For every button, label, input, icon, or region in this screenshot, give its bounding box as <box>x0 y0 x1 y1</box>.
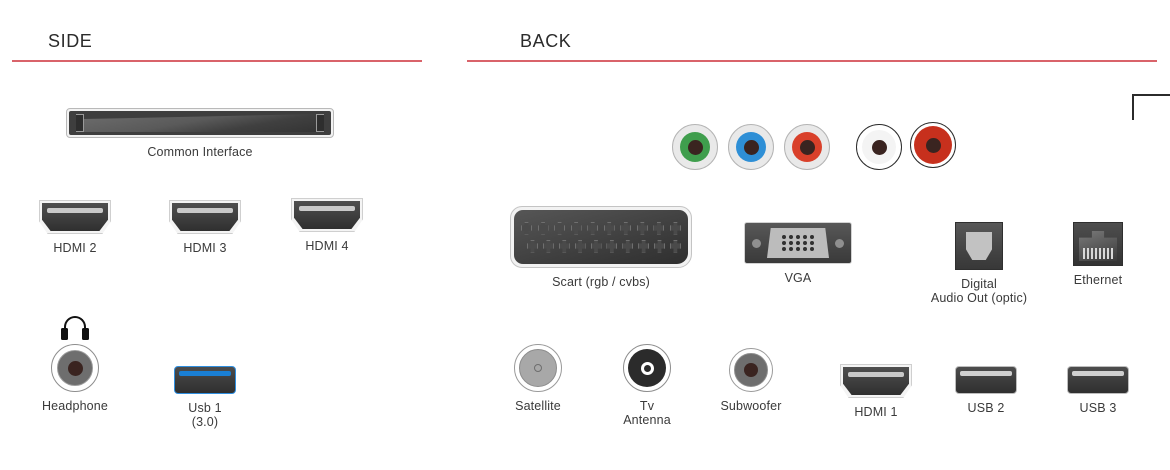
port-label: Ethernet <box>1074 273 1122 287</box>
port-tv-antenna[interactable]: Tv Antenna <box>623 344 671 427</box>
port-label: Scart (rgb / cvbs) <box>552 275 650 289</box>
back-panel: BACK Y Pb Pr - LR <box>440 0 1170 470</box>
side-panel: SIDE Common Interface HDMI 2 HDMI 3 HDMI… <box>0 0 440 470</box>
port-digital-audio-out[interactable]: Digital Audio Out (optic) <box>899 222 1059 305</box>
port-headphone[interactable]: Headphone <box>51 316 99 413</box>
port-label: Satellite <box>515 399 561 413</box>
hdmi-port-icon <box>39 200 111 234</box>
scart-port-icon <box>510 206 692 268</box>
port-label: Subwoofer <box>720 399 781 413</box>
ethernet-port-icon <box>1073 222 1123 266</box>
port-hdmi-3[interactable]: HDMI 3 <box>169 200 241 255</box>
jack-component-y[interactable] <box>672 124 718 170</box>
port-subwoofer[interactable]: Subwoofer <box>729 348 773 413</box>
port-label: Common Interface <box>147 145 252 159</box>
port-satellite[interactable]: Satellite <box>514 344 562 413</box>
port-label: Tv Antenna <box>623 399 671 427</box>
subwoofer-jack-icon <box>729 348 773 392</box>
headphone-jack-icon <box>51 344 99 392</box>
port-hdmi-1[interactable]: HDMI 1 <box>840 364 912 419</box>
port-label: HDMI 1 <box>854 405 897 419</box>
port-usb-3[interactable]: USB 3 <box>1067 366 1129 415</box>
port-hdmi-2[interactable]: HDMI 2 <box>39 200 111 255</box>
port-ethernet[interactable]: Ethernet <box>1073 222 1123 287</box>
jack-component-pb[interactable] <box>728 124 774 170</box>
usb-port-icon <box>174 366 236 394</box>
port-label: Digital Audio Out (optic) <box>931 277 1027 305</box>
optical-audio-port-icon <box>955 222 1003 270</box>
port-label: HDMI 4 <box>305 239 348 253</box>
port-common-interface[interactable]: Common Interface <box>66 108 334 159</box>
back-section-title: BACK <box>520 31 571 52</box>
hdmi-port-icon <box>169 200 241 234</box>
headphone-icon <box>60 316 90 340</box>
port-label: USB 3 <box>1080 401 1117 415</box>
port-scart[interactable]: Scart (rgb / cvbs) <box>510 206 692 289</box>
port-hdmi-4[interactable]: HDMI 4 <box>291 198 363 253</box>
side-section-title: SIDE <box>48 31 92 52</box>
common-interface-icon <box>66 108 334 138</box>
jack-audio-left[interactable] <box>856 124 902 170</box>
port-label: HDMI 2 <box>53 241 96 255</box>
usb-port-icon <box>1067 366 1129 394</box>
port-label: Headphone <box>42 399 108 413</box>
port-label: Usb 1 (3.0) <box>188 401 221 429</box>
jack-audio-right[interactable] <box>910 122 956 168</box>
usb-port-icon <box>955 366 1017 394</box>
port-label: HDMI 3 <box>183 241 226 255</box>
hdmi-port-icon <box>291 198 363 232</box>
port-usb-1[interactable]: Usb 1 (3.0) <box>174 366 236 429</box>
vga-port-icon <box>744 222 852 264</box>
coax-antenna-connector-icon <box>623 344 671 392</box>
side-divider <box>12 60 422 62</box>
satellite-connector-icon <box>514 344 562 392</box>
ypbpr-group-label: Y Pb Pr - LR <box>1132 84 1170 99</box>
hdmi-port-icon <box>840 364 912 398</box>
port-usb-2[interactable]: USB 2 <box>955 366 1017 415</box>
port-label: VGA <box>785 271 812 285</box>
port-label: USB 2 <box>968 401 1005 415</box>
ypbpr-bracket: Y Pb Pr - LR <box>1132 94 1170 120</box>
port-vga[interactable]: VGA <box>744 222 852 285</box>
back-divider <box>467 60 1157 62</box>
jack-component-pr[interactable] <box>784 124 830 170</box>
